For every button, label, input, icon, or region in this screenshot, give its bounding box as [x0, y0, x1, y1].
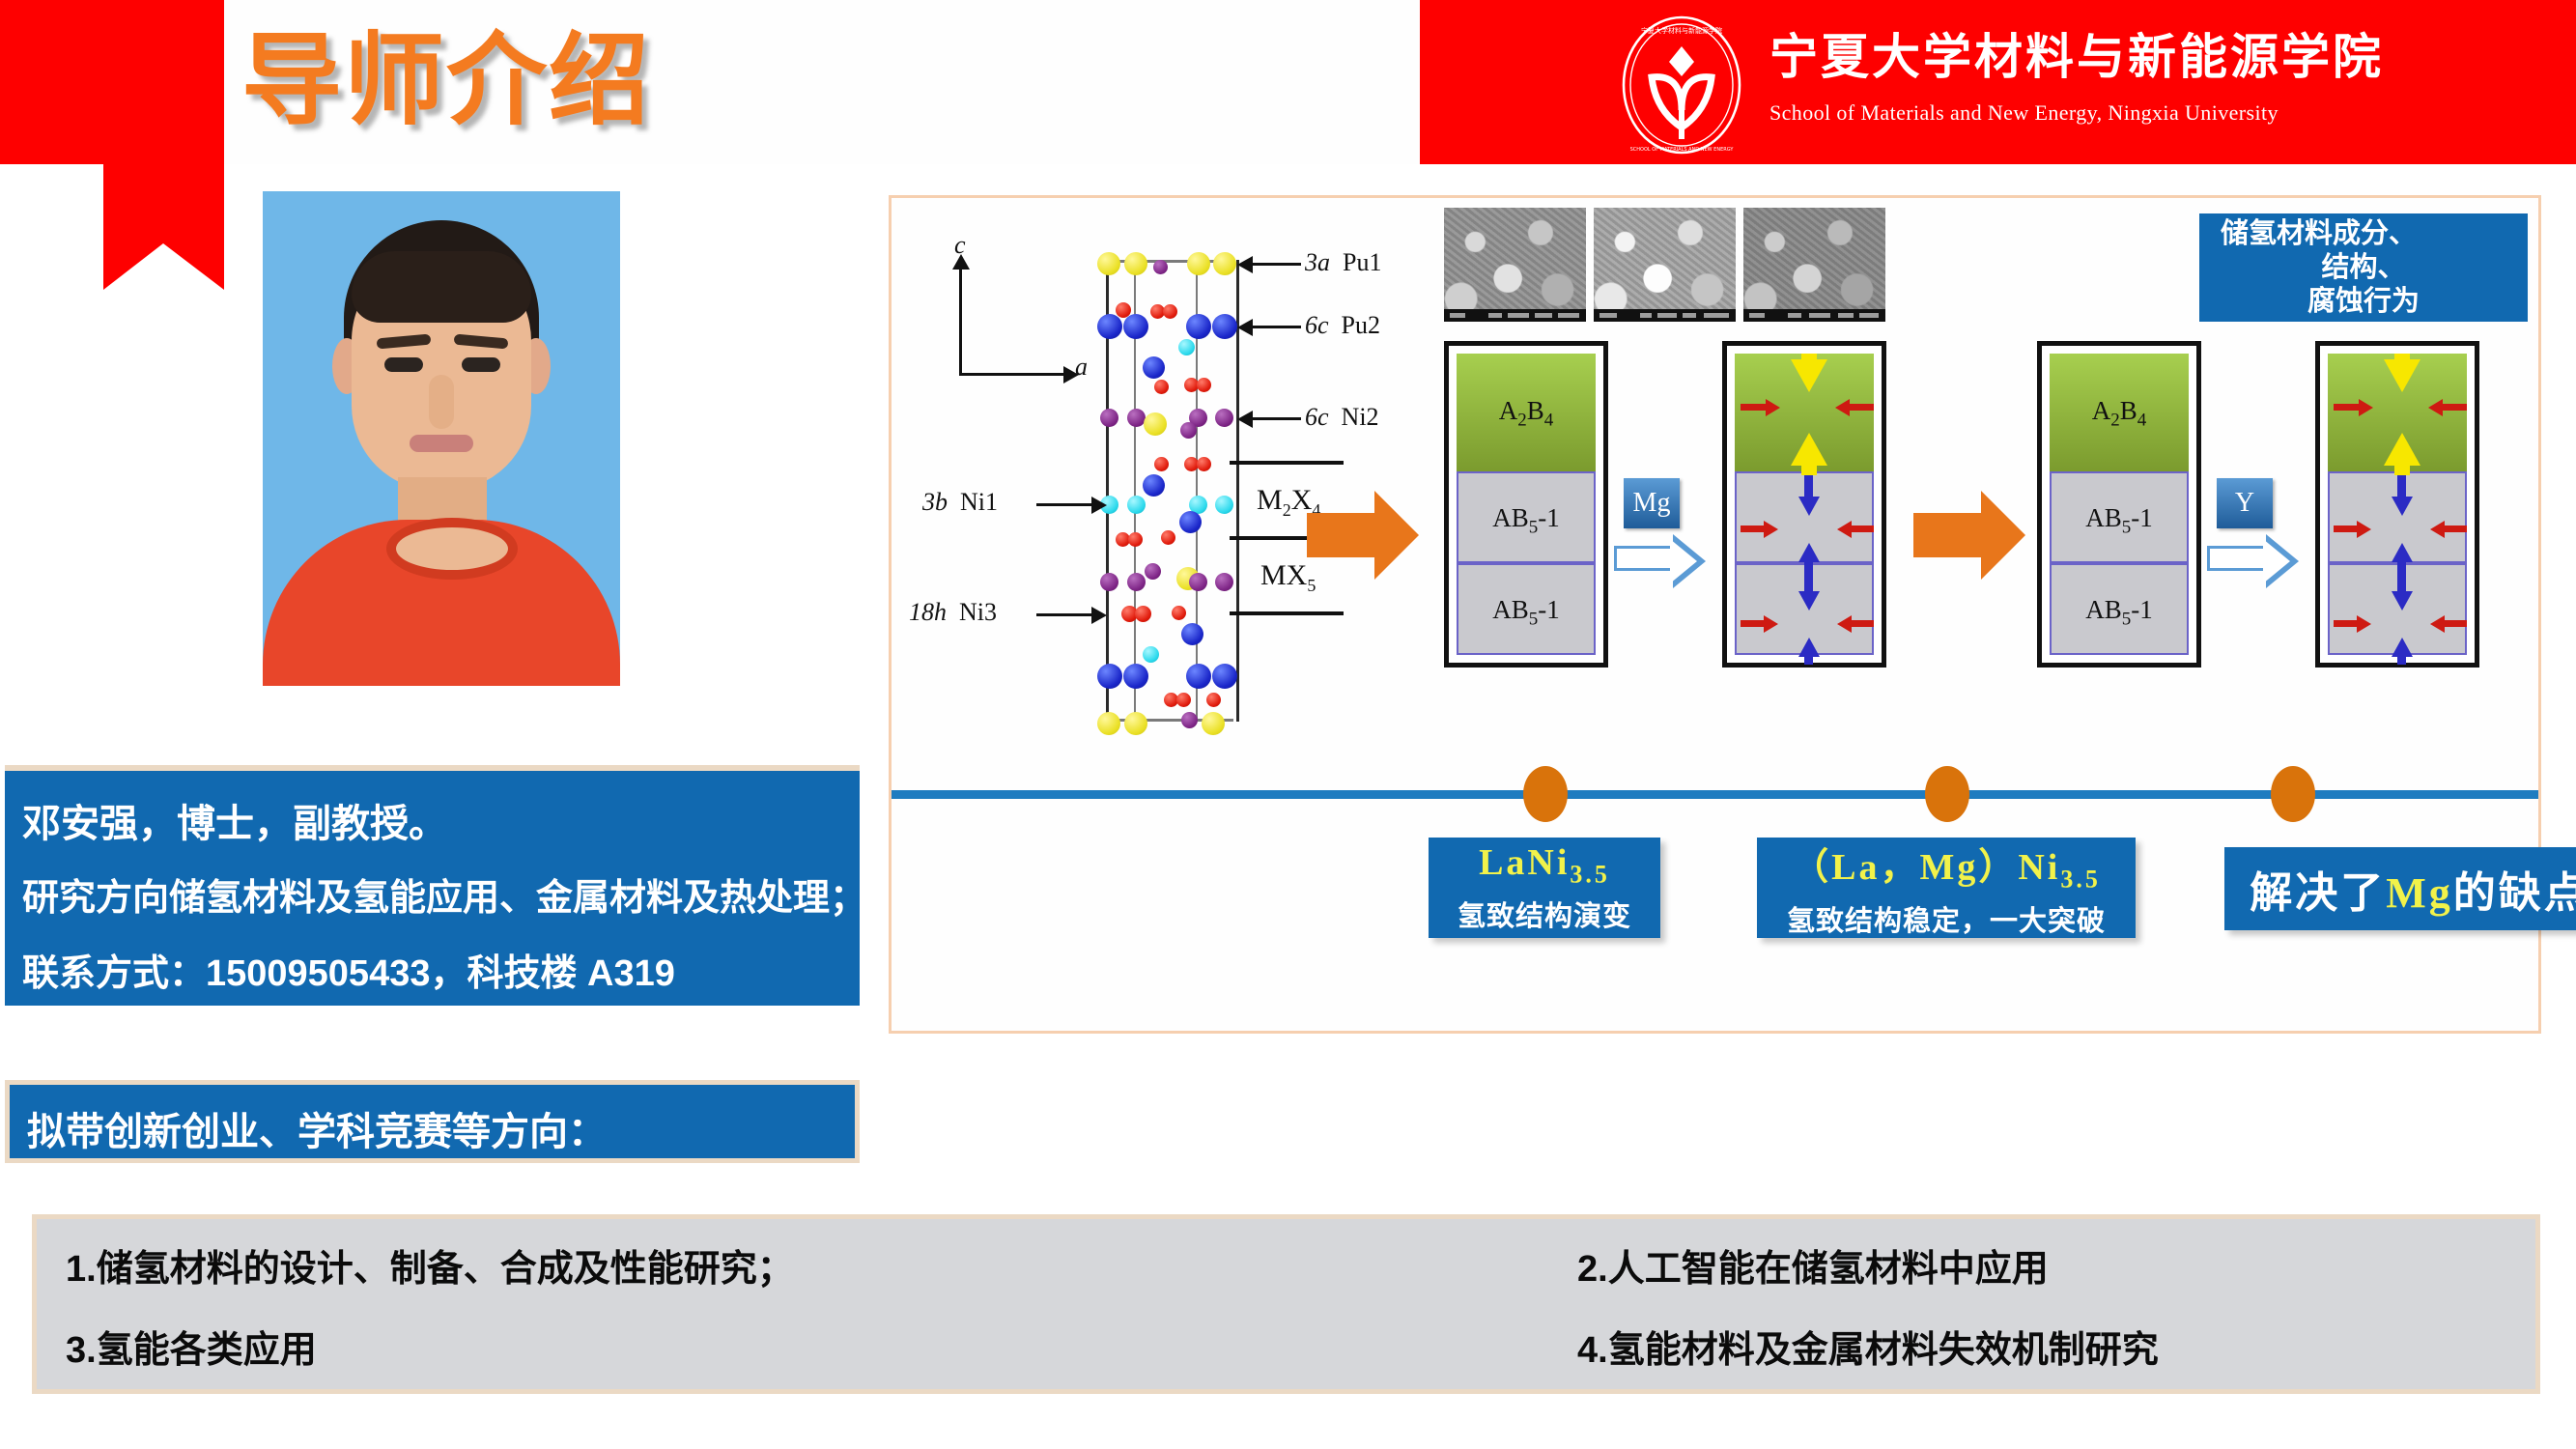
atom-red: [1197, 378, 1211, 392]
result-suffix: 的缺点: [2453, 869, 2576, 917]
atom-red: [1176, 693, 1191, 707]
atom-red: [1206, 693, 1221, 707]
atom-red: [1161, 530, 1175, 545]
advisor-contact: 联系方式：15009505433，科技楼 A319: [22, 943, 675, 996]
process-arrow-1-icon: [1307, 513, 1374, 557]
atom-blue: [1097, 664, 1122, 689]
axis-label-c: c: [954, 231, 966, 260]
red-ribbon-tab: [103, 0, 224, 243]
contraction-arrow-up-blue-icon: [2392, 543, 2413, 562]
figure-caption-line-1: 储氢材料成分、: [2221, 217, 2417, 251]
blue-arrow-stem: [2397, 655, 2406, 665]
lateral-arrow-stem: [1741, 526, 1766, 532]
dopant-chip-y: Y: [2217, 478, 2273, 528]
portrait-nose: [429, 375, 454, 429]
competition-directions-bar: 拟带创新创业、学科竞赛等方向：: [5, 1080, 860, 1163]
atom-red: [1197, 457, 1211, 471]
topic-item-2: 2.人工智能在储氢材料中应用: [1577, 1238, 2049, 1292]
leader-arrow-ni2: [1237, 411, 1253, 428]
atom-red: [1154, 457, 1169, 471]
layer-ab5-lower: AB5-1: [2050, 563, 2189, 655]
atom-purple: [1145, 563, 1161, 580]
atom-yellow: [1144, 412, 1167, 436]
layer-a2b4: A2B4: [2050, 354, 2189, 471]
atom-yellow: [1202, 712, 1225, 735]
lateral-arrow-stem: [1849, 526, 1874, 532]
atom-blue: [1179, 511, 1202, 533]
atom-purple: [1215, 409, 1233, 427]
logo-name-en: School of Materials and New Energy, Ning…: [1769, 100, 2533, 126]
layer-a2b4: A2B4: [1457, 354, 1596, 471]
layer-label-a2b4: A2B4: [1457, 396, 1596, 431]
expansion-arrow-stem: [1801, 354, 1817, 361]
lateral-arrow-left-red-icon: [2428, 399, 2443, 416]
layered-stack-2: [1722, 341, 1886, 668]
contraction-arrow-up-blue-icon: [1798, 543, 1820, 562]
result-prefix: 解决了: [2250, 869, 2386, 917]
timeline-node-2: [1925, 766, 1969, 822]
atom-blue: [1186, 314, 1211, 339]
layer-label-ab5-upper: AB5-1: [1458, 503, 1594, 538]
portrait-collar: [386, 518, 518, 580]
lateral-arrow-stem: [2442, 526, 2467, 532]
atom-blue: [1212, 314, 1237, 339]
leader-line-ni1: [1036, 503, 1096, 506]
figure-caption-box: 储氢材料成分、 结构、 腐蚀行为: [2199, 213, 2528, 322]
portrait-forehead-hairline: [352, 251, 531, 323]
blue-arrow-stem: [2397, 475, 2406, 498]
lateral-arrow-left-red-icon: [2430, 615, 2445, 633]
contraction-arrow-down-blue-icon: [1798, 591, 1820, 611]
lateral-arrow-right-red-icon: [2357, 615, 2371, 633]
subunit-rule-bottom: [1230, 611, 1344, 615]
expansion-arrow-up-yellow-icon: [2384, 433, 2420, 466]
layer-label-ab5-upper: AB5-1: [2052, 503, 2187, 538]
expansion-arrow-down-yellow-icon: [2384, 359, 2420, 392]
layer-label-ab5-lower: AB5-1: [2052, 595, 2187, 630]
page-title: 导师介绍: [241, 14, 763, 149]
portrait-eye-left: [384, 357, 423, 372]
atom-cyan: [1215, 496, 1233, 514]
figure-caption-line-3: 腐蚀行为: [2307, 285, 2420, 319]
layer-ab5-upper: AB5-1: [2050, 471, 2189, 563]
contraction-arrow-down-blue-icon: [1798, 497, 1820, 516]
atom-red: [1172, 606, 1186, 620]
lateral-arrow-left-red-icon: [1837, 521, 1852, 538]
expansion-arrow-stem: [2394, 354, 2410, 361]
contraction-arrow-up-blue-icon: [1798, 638, 1820, 657]
atom-cyan: [1178, 339, 1195, 355]
timeline-card-1-formula: LaNi3.5: [1479, 841, 1610, 890]
advisor-name-title: 邓安强，博士，副教授。: [22, 792, 447, 848]
atom-blue: [1143, 356, 1165, 379]
atom-yellow: [1124, 252, 1147, 275]
atom-purple: [1189, 573, 1207, 591]
axis-c-line: [959, 268, 962, 376]
leader-line-ni3: [1036, 613, 1096, 616]
lateral-arrow-stem: [2334, 526, 2359, 532]
contraction-arrow-down-blue-icon: [2392, 497, 2413, 516]
lateral-arrow-right-red-icon: [1764, 615, 1778, 633]
leader-arrow-ni1: [1091, 497, 1107, 514]
ningxia-university-emblem-icon: 宁夏大学材料与新能源学院 SCHOOL OF MATERIALS AND NEW…: [1613, 14, 1750, 156]
leader-arrow-ni3: [1091, 607, 1107, 624]
formula-base: LaNi: [1479, 842, 1570, 883]
blue-arrow-stem: [1804, 475, 1813, 498]
atom-yellow: [1097, 712, 1120, 735]
advisor-portrait-photo: [263, 191, 620, 686]
doping-arrow-1-icon: [1614, 546, 1676, 571]
atom-yellow: [1213, 252, 1236, 275]
timeline-card-2: （La，Mg）Ni3.5 氢致结构稳定，一大突破: [1757, 838, 2136, 938]
atom-red: [1154, 380, 1169, 394]
atom-red: [1135, 606, 1151, 622]
expansion-arrow-up-yellow-icon: [1791, 433, 1827, 466]
atom-red: [1128, 532, 1143, 547]
formula-subscript: 3.5: [1570, 861, 1610, 889]
atom-purple: [1181, 712, 1198, 728]
layered-stack-4: [2315, 341, 2479, 668]
lateral-arrow-stem: [2334, 620, 2359, 627]
atom-red: [1163, 304, 1177, 319]
lateral-arrow-left-red-icon: [2430, 521, 2445, 538]
timeline-card-1: LaNi3.5 氢致结构演变: [1429, 838, 1660, 938]
formula-base: （La，Mg）Ni: [1792, 847, 2060, 888]
sem-info-bar: [1743, 309, 1885, 322]
expansion-arrow-stem: [2394, 464, 2410, 475]
portrait-mouth: [410, 435, 473, 452]
crystal-structure-diagram: c a: [901, 217, 1345, 1000]
topic-item-1: 1.储氢材料的设计、制备、合成及性能研究；: [66, 1238, 794, 1292]
leader-arrow-pu1: [1237, 256, 1253, 273]
site-label-pu2: 6c Pu2: [1305, 311, 1380, 340]
advisor-info-panel: 邓安强，博士，副教授。 研究方向储氢材料及氢能应用、金属材料及热处理； 联系方式…: [5, 765, 860, 1006]
atom-blue: [1212, 664, 1237, 689]
subunit-rule-top: [1230, 461, 1344, 465]
sem-micrograph-3: [1743, 208, 1885, 322]
atom-blue: [1123, 314, 1148, 339]
lateral-arrow-right-red-icon: [2357, 521, 2371, 538]
lateral-arrow-right-red-icon: [1764, 521, 1778, 538]
portrait-eye-right: [462, 357, 500, 372]
atom-cyan: [1143, 646, 1159, 663]
sem-micrograph-2: [1594, 208, 1736, 322]
topic-item-4: 4.氢能材料及金属材料失效机制研究: [1577, 1320, 2159, 1373]
layer-ab5-lower: AB5-1: [1457, 563, 1596, 655]
atom-purple: [1100, 409, 1118, 427]
advisor-research-areas: 研究方向储氢材料及氢能应用、金属材料及热处理；: [22, 867, 866, 921]
lateral-arrow-stem: [2442, 620, 2467, 627]
atom-purple: [1180, 422, 1197, 439]
lateral-arrow-right-red-icon: [1766, 399, 1780, 416]
leader-arrow-pu2: [1237, 319, 1253, 336]
timeline-node-3: [2271, 766, 2315, 822]
atom-cyan: [1127, 496, 1146, 514]
axis-label-a: a: [1075, 353, 1088, 382]
atom-yellow: [1124, 712, 1147, 735]
axis-a-line: [959, 373, 1065, 376]
blue-arrow-stem: [1804, 560, 1813, 593]
competition-directions-label: 拟带创新创业、学科竞赛等方向：: [27, 1100, 607, 1156]
figure-caption-line-2: 结构、: [2321, 251, 2405, 285]
timeline-card-2-formula: （La，Mg）Ni3.5: [1792, 837, 2101, 895]
atom-blue: [1186, 664, 1211, 689]
atom-purple: [1215, 573, 1233, 591]
expansion-arrow-down-yellow-icon: [1791, 359, 1827, 392]
blue-arrow-stem: [1804, 655, 1813, 665]
site-label-ni3: 18h Ni3: [909, 598, 997, 627]
atom-blue: [1143, 474, 1165, 497]
lateral-arrow-stem: [1847, 404, 1874, 411]
result-highlight: Mg: [2386, 869, 2453, 917]
lateral-arrow-stem: [1741, 404, 1768, 411]
logo-name-cn: 宁夏大学材料与新能源学院: [1769, 29, 2533, 85]
svg-text:宁夏大学材料与新能源学院: 宁夏大学材料与新能源学院: [1641, 26, 1722, 35]
sem-info-bar: [1444, 309, 1586, 322]
topic-item-3: 3.氢能各类应用: [66, 1320, 317, 1373]
layer-ab5-upper: AB5-1: [1457, 471, 1596, 563]
site-label-pu1: 3a Pu1: [1305, 248, 1381, 277]
subunit-label-mx5: MX5: [1260, 559, 1316, 596]
result-card: 解决了Mg的缺点: [2224, 847, 2576, 930]
atom-purple: [1153, 260, 1168, 274]
process-arrow-2-icon: [1913, 513, 1981, 557]
research-figure: c a: [889, 195, 2541, 1034]
expansion-arrow-stem: [1801, 464, 1817, 475]
lateral-arrow-right-red-icon: [2359, 399, 2373, 416]
lateral-arrow-left-red-icon: [1837, 615, 1852, 633]
doping-arrow-2-icon: [2207, 546, 2269, 571]
svg-text:SCHOOL OF MATERIALS AND NEW EN: SCHOOL OF MATERIALS AND NEW ENERGY: [1630, 147, 1735, 153]
contraction-arrow-down-blue-icon: [2392, 591, 2413, 611]
lateral-arrow-stem: [1849, 620, 1874, 627]
site-label-ni2: 6c Ni2: [1305, 403, 1379, 432]
lateral-arrow-stem: [2334, 404, 2361, 411]
lateral-arrow-stem: [2440, 404, 2467, 411]
layer-label-a2b4: A2B4: [2050, 396, 2189, 431]
lateral-arrow-left-red-icon: [1835, 399, 1850, 416]
layered-stack-3: A2B4 AB5-1 AB5-1: [2037, 341, 2201, 668]
blue-arrow-stem: [2397, 560, 2406, 593]
topics-panel: 1.储氢材料的设计、制备、合成及性能研究； 2.人工智能在储氢材料中应用 3.氢…: [32, 1214, 2540, 1394]
atom-purple: [1127, 573, 1146, 591]
layered-stack-1: A2B4 AB5-1 AB5-1: [1444, 341, 1608, 668]
atom-blue: [1123, 664, 1148, 689]
dopant-chip-mg: Mg: [1624, 478, 1680, 528]
timeline-card-2-caption: 氢致结构稳定，一大突破: [1787, 898, 2106, 939]
atom-yellow: [1187, 252, 1210, 275]
timeline-card-1-caption: 氢致结构演变: [1458, 894, 1631, 934]
formula-subscript: 3.5: [2060, 866, 2101, 894]
timeline-node-1: [1523, 766, 1568, 822]
atom-blue: [1097, 314, 1122, 339]
lateral-arrow-stem: [1741, 620, 1766, 627]
institution-logo: 宁夏大学材料与新能源学院 SCHOOL OF MATERIALS AND NEW…: [1613, 8, 2540, 162]
layer-label-ab5-lower: AB5-1: [1458, 595, 1594, 630]
atom-yellow: [1097, 252, 1120, 275]
atom-purple: [1100, 573, 1118, 591]
sem-info-bar: [1594, 309, 1736, 322]
atom-blue: [1181, 623, 1203, 645]
sem-micrograph-1: [1444, 208, 1586, 322]
contraction-arrow-up-blue-icon: [2392, 638, 2413, 657]
site-label-ni1: 3b Ni1: [922, 488, 998, 517]
